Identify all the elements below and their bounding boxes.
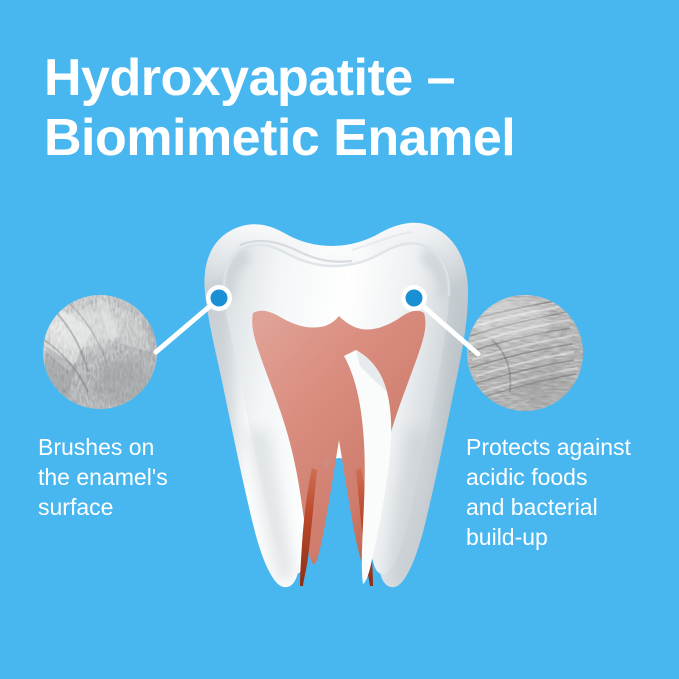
title-line-1: Hydroxyapatite – [44,48,644,108]
caption-right-line-3: and bacterial [466,492,671,522]
caption-right-line-2: acidic foods [466,462,671,492]
caption-left-line-3: surface [38,492,238,522]
leader-line-left [156,301,216,352]
caption-left: Brushes on the enamel's surface [38,432,238,522]
callout-dot-left[interactable] [206,285,232,311]
tooth-body [204,220,468,600]
callout-dot-right[interactable] [401,285,427,311]
caption-right-line-1: Protects against [466,432,671,462]
caption-left-line-1: Brushes on [38,432,238,462]
title-line-2: Biomimetic Enamel [44,108,644,168]
caption-right: Protects against acidic foods and bacter… [466,432,671,552]
caption-right-line-4: build-up [466,522,671,552]
caption-left-line-2: the enamel's [38,462,238,492]
infographic-canvas: Hydroxyapatite – Biomimetic Enamel Brush… [0,0,679,679]
micrograph-left [43,295,157,409]
micrograph-right [467,295,583,412]
page-title: Hydroxyapatite – Biomimetic Enamel [44,48,644,168]
